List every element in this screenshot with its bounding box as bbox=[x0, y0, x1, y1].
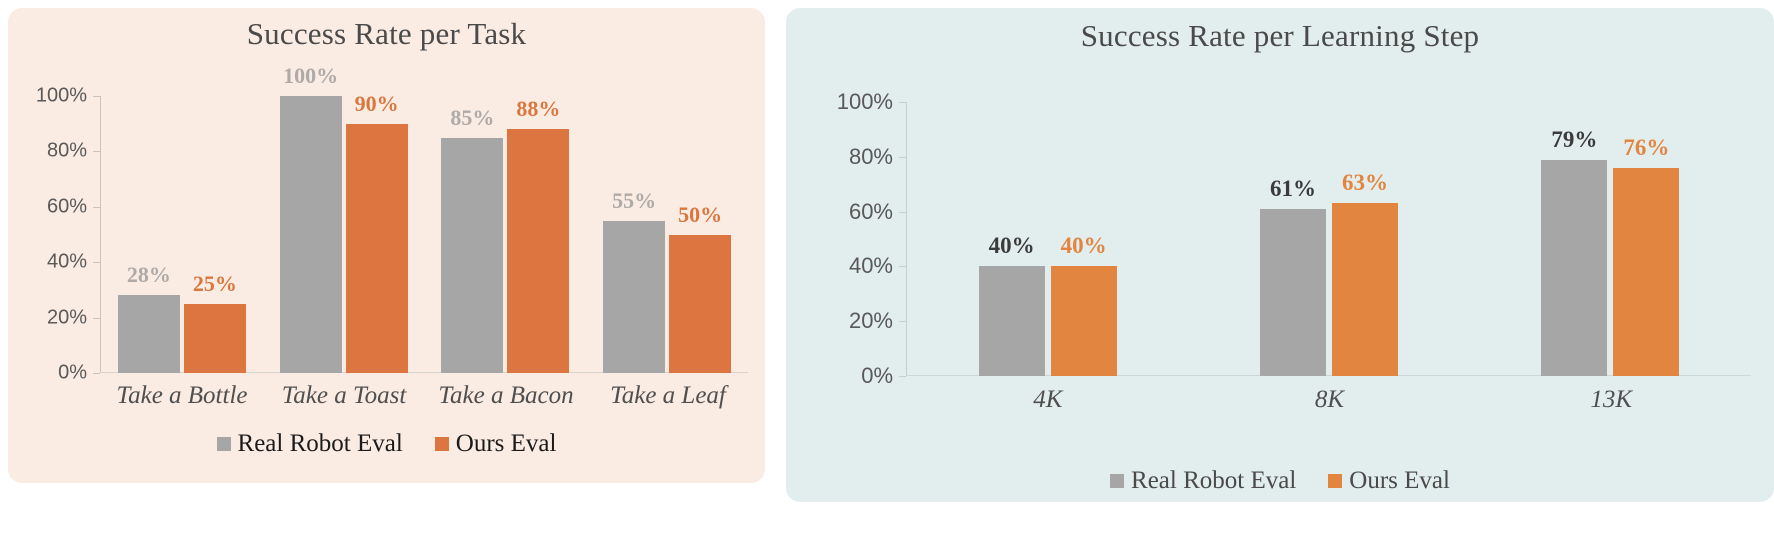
bar-ours-eval[interactable] bbox=[184, 304, 246, 373]
bar-slot[interactable]: 88% bbox=[507, 96, 569, 373]
bar-slot[interactable]: 90% bbox=[346, 96, 408, 373]
bar-groups: 28% 25% 100% 90% bbox=[101, 96, 748, 373]
bar-value-label: 40% bbox=[1061, 233, 1107, 259]
y-tick-20 bbox=[899, 321, 906, 322]
x-tick-label: Take a Leaf bbox=[587, 382, 749, 410]
bar-real-robot-eval[interactable] bbox=[1260, 209, 1326, 376]
y-tick-60 bbox=[899, 212, 906, 213]
x-axis-labels: Take a Bottle Take a Toast Take a Bacon … bbox=[101, 382, 749, 410]
bar-value-label: 90% bbox=[355, 91, 399, 117]
plot-area-learning-step: 0% 20% 40% 60% 80% 100% 40% 40% bbox=[906, 102, 1751, 376]
bar-real-robot-eval[interactable] bbox=[118, 295, 180, 373]
x-tick-label: Take a Bacon bbox=[425, 382, 587, 410]
y-tick-0 bbox=[93, 373, 100, 374]
y-tick-label-100: 100% bbox=[837, 89, 893, 115]
y-tick-label-20: 20% bbox=[47, 306, 87, 329]
chart-legend: Real Robot Eval Ours Eval bbox=[8, 430, 765, 458]
bar-slot[interactable]: 25% bbox=[184, 96, 246, 373]
bar-group: 100% 90% bbox=[263, 96, 425, 373]
bar-value-label: 25% bbox=[193, 271, 237, 297]
x-tick-label: 13K bbox=[1470, 386, 1752, 414]
legend-label: Ours Eval bbox=[1349, 467, 1450, 495]
bar-value-label: 40% bbox=[989, 233, 1035, 259]
x-tick-label: Take a Toast bbox=[263, 382, 425, 410]
y-tick-label-20: 20% bbox=[849, 308, 893, 334]
y-tick-0 bbox=[899, 376, 906, 377]
y-tick-100 bbox=[93, 96, 100, 97]
bar-slot[interactable]: 79% bbox=[1541, 102, 1607, 376]
chart-legend: Real Robot Eval Ours Eval bbox=[786, 467, 1774, 495]
legend-item-ours-eval[interactable]: Ours Eval bbox=[435, 430, 557, 458]
legend-swatch-icon bbox=[1110, 474, 1124, 488]
legend-item-real-robot-eval[interactable]: Real Robot Eval bbox=[217, 430, 403, 458]
y-tick-label-80: 80% bbox=[849, 144, 893, 170]
bar-value-label: 55% bbox=[612, 188, 656, 214]
y-tick-40 bbox=[899, 266, 906, 267]
page-title: Success Rate per Learning Step bbox=[786, 18, 1774, 54]
bar-ours-eval[interactable] bbox=[507, 129, 569, 373]
bar-slot[interactable]: 50% bbox=[669, 96, 731, 373]
y-tick-label-80: 80% bbox=[47, 140, 87, 163]
y-tick-label-60: 60% bbox=[47, 195, 87, 218]
legend-label: Real Robot Eval bbox=[1131, 467, 1296, 495]
bar-value-label: 100% bbox=[283, 63, 338, 89]
y-tick-label-40: 40% bbox=[47, 251, 87, 274]
figure-two-bar-charts: Success Rate per Task 0% 20% 40% 60% 80%… bbox=[0, 0, 1774, 550]
legend-label: Real Robot Eval bbox=[238, 430, 403, 458]
y-tick-40 bbox=[93, 262, 100, 263]
bar-group: 79% 76% bbox=[1470, 102, 1751, 376]
y-tick-label-60: 60% bbox=[849, 199, 893, 225]
x-tick-label: 4K bbox=[907, 386, 1189, 414]
y-tick-label-100: 100% bbox=[36, 85, 87, 108]
bar-slot[interactable]: 28% bbox=[118, 96, 180, 373]
y-tick-label-0: 0% bbox=[58, 362, 87, 385]
bar-ours-eval[interactable] bbox=[1613, 168, 1679, 376]
bar-slot[interactable]: 55% bbox=[603, 96, 665, 373]
y-tick-label-40: 40% bbox=[849, 253, 893, 279]
bar-value-label: 28% bbox=[127, 262, 171, 288]
bar-value-label: 85% bbox=[450, 105, 494, 131]
y-tick-100 bbox=[899, 102, 906, 103]
bar-group: 40% 40% bbox=[907, 102, 1188, 376]
bar-value-label: 76% bbox=[1623, 135, 1669, 161]
bar-value-label: 61% bbox=[1270, 176, 1316, 202]
y-tick-60 bbox=[93, 207, 100, 208]
bar-groups: 40% 40% 61% 63% bbox=[907, 102, 1751, 376]
x-axis-labels: 4K 8K 13K bbox=[907, 386, 1752, 414]
page-title: Success Rate per Task bbox=[8, 16, 765, 52]
y-tick-80 bbox=[93, 151, 100, 152]
legend-swatch-icon bbox=[1328, 474, 1342, 488]
bar-value-label: 88% bbox=[516, 96, 560, 122]
bar-real-robot-eval[interactable] bbox=[1541, 160, 1607, 376]
bar-slot[interactable]: 61% bbox=[1260, 102, 1326, 376]
chart-panel-task: Success Rate per Task 0% 20% 40% 60% 80%… bbox=[8, 8, 765, 483]
bar-ours-eval[interactable] bbox=[1051, 266, 1117, 376]
bar-real-robot-eval[interactable] bbox=[441, 138, 503, 373]
bar-real-robot-eval[interactable] bbox=[979, 266, 1045, 376]
bar-value-label: 63% bbox=[1342, 170, 1388, 196]
legend-swatch-icon bbox=[435, 437, 449, 451]
bar-slot[interactable]: 76% bbox=[1613, 102, 1679, 376]
bar-ours-eval[interactable] bbox=[1332, 203, 1398, 376]
y-tick-20 bbox=[93, 318, 100, 319]
y-tick-80 bbox=[899, 157, 906, 158]
bar-slot[interactable]: 100% bbox=[280, 96, 342, 373]
bar-group: 28% 25% bbox=[101, 96, 263, 373]
bar-group: 61% 63% bbox=[1188, 102, 1469, 376]
bar-ours-eval[interactable] bbox=[346, 124, 408, 373]
plot-area-task: 0% 20% 40% 60% 80% 100% 28% 25% bbox=[100, 96, 748, 373]
bar-real-robot-eval[interactable] bbox=[603, 221, 665, 373]
x-tick-label: Take a Bottle bbox=[101, 382, 263, 410]
bar-slot[interactable]: 40% bbox=[1051, 102, 1117, 376]
bar-group: 85% 88% bbox=[425, 96, 587, 373]
legend-label: Ours Eval bbox=[456, 430, 557, 458]
bar-slot[interactable]: 63% bbox=[1332, 102, 1398, 376]
bar-value-label: 79% bbox=[1551, 127, 1597, 153]
bar-real-robot-eval[interactable] bbox=[280, 96, 342, 373]
legend-item-ours-eval[interactable]: Ours Eval bbox=[1328, 467, 1450, 495]
chart-panel-learning-step: Success Rate per Learning Step 0% 20% 40… bbox=[786, 8, 1774, 502]
bar-value-label: 50% bbox=[678, 202, 722, 228]
legend-swatch-icon bbox=[217, 437, 231, 451]
x-tick-label: 8K bbox=[1189, 386, 1471, 414]
bar-ours-eval[interactable] bbox=[669, 235, 731, 374]
bar-slot[interactable]: 40% bbox=[979, 102, 1045, 376]
bar-slot[interactable]: 85% bbox=[441, 96, 503, 373]
y-tick-label-0: 0% bbox=[861, 363, 893, 389]
bar-group: 55% 50% bbox=[586, 96, 748, 373]
legend-item-real-robot-eval[interactable]: Real Robot Eval bbox=[1110, 467, 1296, 495]
